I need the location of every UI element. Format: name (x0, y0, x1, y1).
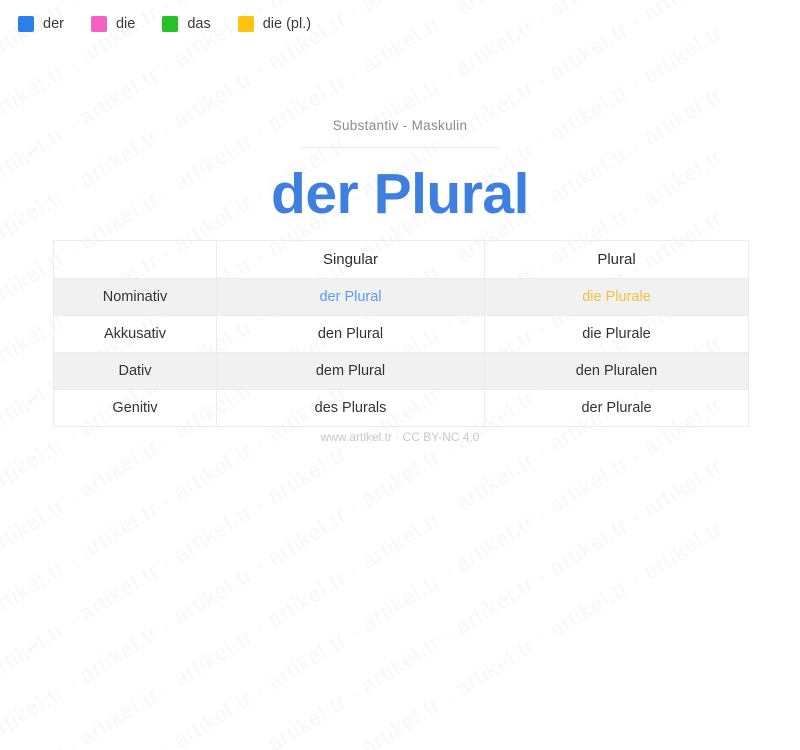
footer-attribution: www.artikel.tr · CC BY-NC 4.0 (0, 430, 800, 444)
table-header-singular: Singular (217, 241, 485, 279)
cell-dativ-plural: den Pluralen (485, 353, 749, 390)
watermark-text: artikel.tr · artikel.tr · artikel.tr · a… (0, 465, 720, 750)
cell-akkusativ-singular: den Plural (217, 316, 485, 353)
table-header-plural: Plural (485, 241, 749, 279)
case-label-nominativ: Nominativ (54, 279, 217, 316)
table-header-case (54, 241, 217, 279)
cell-genitiv-plural: der Plurale (485, 390, 749, 427)
case-label-genitiv: Genitiv (54, 390, 217, 427)
cell-nominativ-plural: die Plurale (485, 279, 749, 316)
cell-akkusativ-plural: die Plurale (485, 316, 749, 353)
table-row: Dativ dem Plural den Pluralen (54, 353, 749, 390)
watermark-text: artikel.tr · artikel.tr · artikel.tr · a… (0, 403, 720, 750)
declension-table-wrapper: Singular Plural Nominativ der Plural die… (53, 240, 748, 427)
cell-dativ-singular: dem Plural (217, 353, 485, 390)
header-divider (300, 147, 500, 148)
table-header-row: Singular Plural (54, 241, 749, 279)
word-category-subtitle: Substantiv - Maskulin (0, 118, 800, 133)
declension-table: Singular Plural Nominativ der Plural die… (53, 240, 749, 427)
table-row: Genitiv des Plurals der Plurale (54, 390, 749, 427)
header-block: Substantiv - Maskulin der Plural (0, 0, 800, 225)
cell-genitiv-singular: des Plurals (217, 390, 485, 427)
cell-nominativ-singular: der Plural (217, 279, 485, 316)
case-label-dativ: Dativ (54, 353, 217, 390)
page-title: der Plural (0, 165, 800, 225)
table-row: Akkusativ den Plural die Plurale (54, 316, 749, 353)
watermark-text: artikel.tr · artikel.tr · artikel.tr · a… (0, 527, 720, 750)
case-label-akkusativ: Akkusativ (54, 316, 217, 353)
table-row: Nominativ der Plural die Plurale (54, 279, 749, 316)
